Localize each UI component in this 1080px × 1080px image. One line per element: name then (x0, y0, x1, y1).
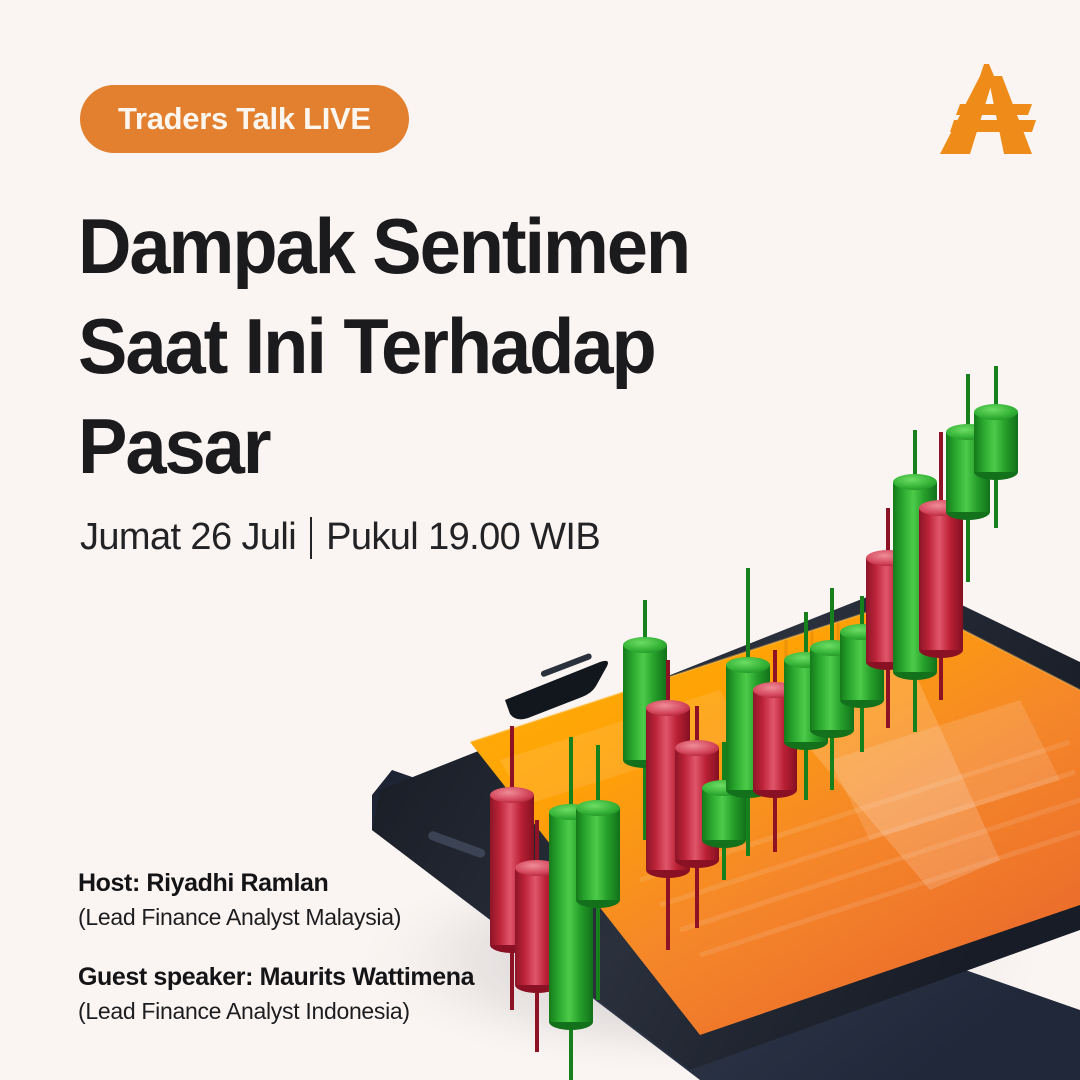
event-date: Jumat 26 Juli (80, 516, 296, 559)
candle-body-top (675, 740, 719, 756)
candle-body-bottom (623, 752, 667, 768)
candlestick-bullish (974, 366, 1018, 528)
candle-body-bottom (974, 464, 1018, 480)
candle-body-top (840, 624, 884, 640)
candle-body (866, 558, 910, 662)
candlestick-bullish (893, 430, 937, 732)
candle-body-bottom (840, 692, 884, 708)
candlestick-bearish (675, 706, 719, 928)
candle-body (675, 748, 719, 860)
candle-body (946, 432, 990, 512)
candle-body-top (576, 800, 620, 816)
host-name: Host: Riyadhi Ramlan (78, 866, 598, 900)
candlestick-bullish (784, 612, 828, 800)
candle-body-bottom (646, 862, 690, 878)
candle-body (974, 412, 1018, 472)
candle-body-bottom (702, 832, 746, 848)
candle-body-bottom (866, 654, 910, 670)
phone-volume-button (427, 830, 486, 859)
candle-body-bottom (810, 722, 854, 738)
candle-body-top (946, 424, 990, 440)
candle-body-top (919, 500, 963, 516)
candle-body (919, 508, 963, 650)
candle-body (753, 690, 797, 790)
candle-body (623, 645, 667, 760)
headline-line-2: Saat Ini Terhadap (78, 296, 800, 396)
candle-body-top (753, 682, 797, 698)
guest-name: Guest speaker: Maurits Wattimena (78, 960, 598, 994)
candle-body-top (623, 637, 667, 653)
candle-body-bottom (784, 734, 828, 750)
guest-role: (Lead Finance Analyst Indonesia) (78, 994, 598, 1028)
candle-body-bottom (675, 852, 719, 868)
event-time: Pukul 19.00 WIB (326, 516, 600, 559)
candle-body (784, 660, 828, 742)
candlestick-bullish (810, 588, 854, 790)
candlestick-bullish (840, 596, 884, 752)
candle-body-bottom (919, 642, 963, 658)
badge-label: Traders Talk LIVE (118, 101, 371, 137)
candle-body (726, 665, 770, 790)
traders-talk-live-badge[interactable]: Traders Talk LIVE (80, 85, 409, 153)
event-datetime: Jumat 26 Juli Pukul 19.00 WIB (80, 516, 600, 559)
host-entry: Host: Riyadhi Ramlan (Lead Finance Analy… (78, 866, 598, 934)
candle-body-top (810, 640, 854, 656)
candlestick-bullish (946, 374, 990, 582)
candle-body-bottom (893, 664, 937, 680)
candlestick-bullish (702, 742, 746, 880)
candle-body (840, 632, 884, 700)
speaker-list: Host: Riyadhi Ramlan (Lead Finance Analy… (78, 866, 598, 1028)
headline-line-1: Dampak Sentimen (78, 196, 800, 296)
candle-body-top (974, 404, 1018, 420)
page-title: Dampak Sentimen Saat Ini Terhadap Pasar (78, 196, 838, 496)
candle-body (810, 648, 854, 730)
candle-body (893, 482, 937, 672)
candle-body-bottom (726, 782, 770, 798)
candle-body-top (490, 787, 534, 803)
candle-body (702, 788, 746, 840)
phone-notch (505, 661, 608, 719)
datetime-separator (310, 517, 312, 559)
candle-body-top (784, 652, 828, 668)
octa-a-logo-icon (932, 58, 1044, 160)
candlestick-bearish (919, 432, 963, 700)
candle-body-top (646, 700, 690, 716)
headline-line-3: Pasar (78, 396, 800, 496)
candlestick-bearish (753, 650, 797, 852)
candlestick-bullish (726, 568, 770, 856)
candle-body-top (866, 550, 910, 566)
candlestick-bullish (623, 600, 667, 840)
candlestick-bearish (866, 508, 910, 728)
candle-body-top (549, 804, 593, 820)
candle-body-top (702, 780, 746, 796)
host-role: (Lead Finance Analyst Malaysia) (78, 900, 598, 934)
candlestick-bearish (646, 660, 690, 950)
phone-earpiece (540, 653, 593, 678)
guest-entry: Guest speaker: Maurits Wattimena (Lead F… (78, 960, 598, 1028)
candle-body-top (726, 657, 770, 673)
candle-body-bottom (753, 782, 797, 798)
candle-body (646, 708, 690, 870)
candle-body-bottom (946, 504, 990, 520)
promo-poster: Traders Talk LIVE Dampak Sentimen Saat I… (0, 0, 1080, 1080)
candle-body-top (893, 474, 937, 490)
